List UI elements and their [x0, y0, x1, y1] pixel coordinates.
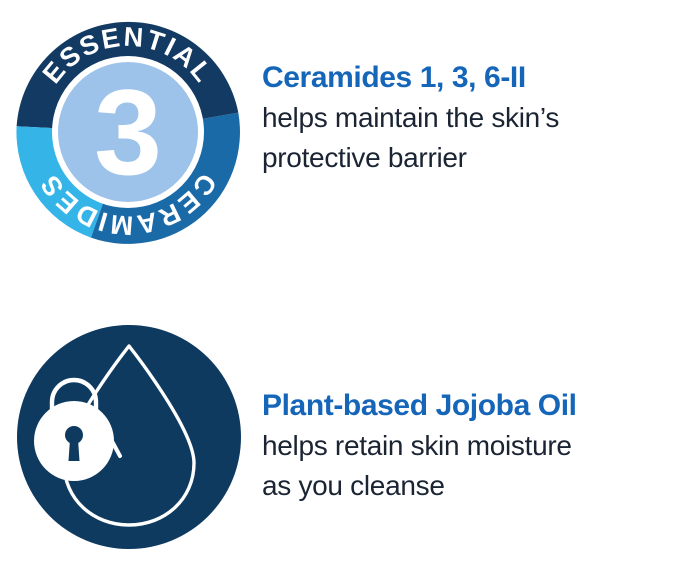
text-cell-ceramides: Ceramides 1, 3, 6-II helps maintain the …	[262, 0, 679, 178]
feature-heading-ceramides: Ceramides 1, 3, 6-II	[262, 58, 677, 98]
feature-body-line: as you cleanse	[262, 466, 677, 506]
feature-heading-jojoba: Plant-based Jojoba Oil	[262, 386, 677, 426]
feature-body-ceramides: helps maintain the skin’s protective bar…	[262, 98, 677, 178]
feature-body-line: helps maintain the skin’s	[262, 98, 677, 138]
feature-body-jojoba: helps retain skin moisture as you cleans…	[262, 426, 677, 506]
feature-body-line: helps retain skin moisture	[262, 426, 677, 466]
padlock-keyhole-stem	[69, 439, 80, 461]
jojoba-droplet-lock-icon	[16, 324, 242, 550]
essential-3-ceramides-badge: 3 ESSENTIAL CERAMIDES	[16, 20, 240, 244]
text-cell-jojoba: Plant-based Jojoba Oil helps retain skin…	[262, 288, 679, 506]
feature-row-ceramides: 3 ESSENTIAL CERAMIDES Ceramides 1, 3, 6-…	[0, 0, 679, 288]
feature-body-line: protective barrier	[262, 138, 677, 178]
feature-list: 3 ESSENTIAL CERAMIDES Ceramides 1, 3, 6-…	[0, 0, 679, 576]
feature-row-jojoba: Plant-based Jojoba Oil helps retain skin…	[0, 288, 679, 576]
badge-center-number: 3	[94, 64, 162, 200]
